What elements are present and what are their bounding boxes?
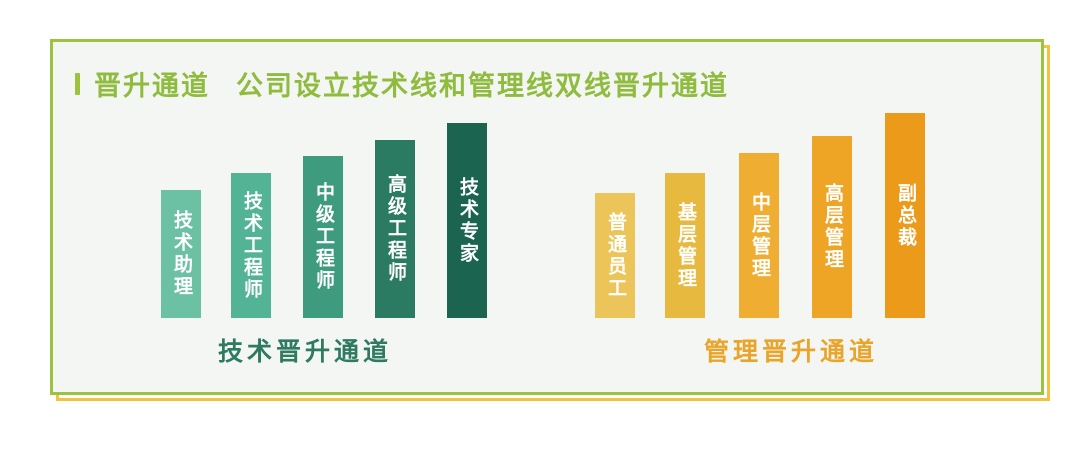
chart-group-technical: 技术助理 技术工程师 中级工程师 高级工程师 技术专家 技术晋升通道 [105,118,505,368]
bar-mgmt-5[interactable]: 副总裁 [885,113,925,318]
infographic-canvas: 晋升通道 公司设立技术线和管理线双线晋升通道 技术助理 技术工程师 中级工程师 … [0,0,1080,459]
title-text: 晋升通道 [94,64,210,103]
bar-label: 技术工程师 [241,183,261,309]
bar-label: 高层管理 [822,175,842,279]
caption-management: 管理晋升通道 [591,332,991,368]
caption-technical: 技术晋升通道 [105,332,505,368]
bar-track-management: 普通员工 基层管理 中层管理 高层管理 副总裁 [591,118,991,318]
bar-tech-1[interactable]: 技术助理 [161,190,201,318]
bar-mgmt-4[interactable]: 高层管理 [812,136,852,318]
bar-tech-4[interactable]: 高级工程师 [375,140,415,318]
bar-label: 副总裁 [895,175,915,257]
bar-label: 高级工程师 [385,166,405,292]
bar-label: 基层管理 [675,194,695,298]
title-accent-bar [75,73,80,95]
bar-tech-2[interactable]: 技术工程师 [231,173,271,318]
bar-label: 中级工程师 [313,174,333,300]
bar-label: 普通员工 [605,204,625,308]
bar-tech-3[interactable]: 中级工程师 [303,156,343,318]
bar-track-technical: 技术助理 技术工程师 中级工程师 高级工程师 技术专家 [105,118,505,318]
bar-mgmt-2[interactable]: 基层管理 [665,173,705,318]
bar-label: 技术助理 [171,202,191,306]
bar-mgmt-3[interactable]: 中层管理 [739,153,779,318]
page-title: 晋升通道 公司设立技术线和管理线双线晋升通道 [75,64,729,103]
bar-label: 技术专家 [457,169,477,273]
bar-tech-5[interactable]: 技术专家 [447,123,487,318]
bar-mgmt-1[interactable]: 普通员工 [595,193,635,318]
content-frame: 晋升通道 公司设立技术线和管理线双线晋升通道 技术助理 技术工程师 中级工程师 … [50,39,1044,395]
bar-label: 中层管理 [749,184,769,288]
title-subtitle: 公司设立技术线和管理线双线晋升通道 [236,64,729,103]
chart-group-management: 普通员工 基层管理 中层管理 高层管理 副总裁 管理晋升通道 [591,118,991,368]
